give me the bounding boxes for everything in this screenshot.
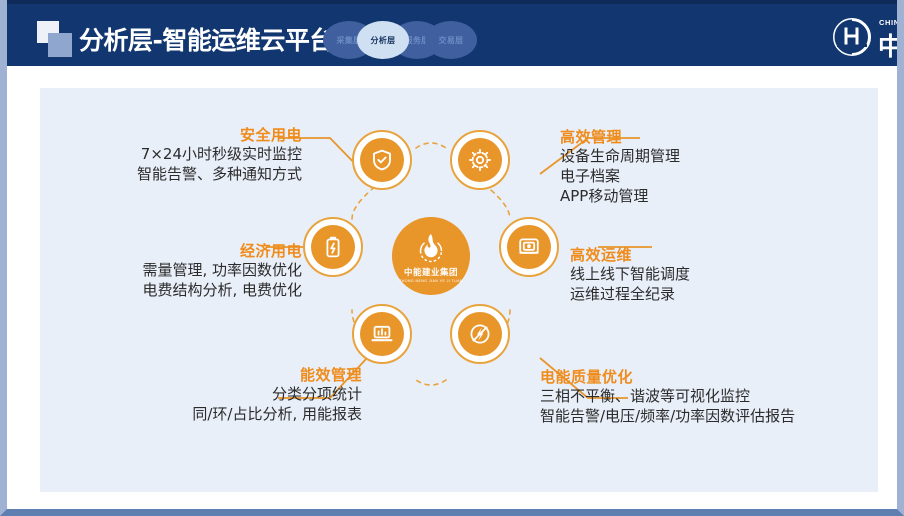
feature-line: 运维过程全纪录 [570,285,870,305]
squares-logo-mark-icon [37,21,73,57]
node-efficient-operations[interactable] [499,217,559,277]
content-panel: 中能建业集团 ZHONG NENG JIAN YE JI TUAN 安全用电 7… [40,88,878,492]
flame-gear-icon [414,231,448,265]
feature-line: 智能告警、多种通知方式 [40,165,302,185]
bar-chart-laptop-icon [360,312,404,356]
center-logo-name: 中能建业集团 [404,266,458,278]
center-logo-pinyin: ZHONG NENG JIAN YE JI TUAN [399,279,463,283]
slide-page: 分析层-智能运维云平台 采集层 分析层 服务层 交易层 CHINA ENERGY… [0,0,904,516]
brand-logo: CHINA ENERGY GUO HONG 中能国宏 [832,16,879,58]
pill-analysis-layer[interactable]: 分析层 [357,21,409,59]
brand-logo-cn: 中能国宏 [878,27,897,63]
feature-title: 安全用电 [40,124,302,145]
company-monogram-icon [832,17,872,57]
page-header: 分析层-智能运维云平台 采集层 分析层 服务层 交易层 CHINA ENERGY… [7,0,897,66]
node-energy-efficiency[interactable] [352,304,412,364]
feature-line: 设备生命周期管理 [560,147,860,167]
feature-line: 三相不平衡、谐波等可视化监控 [540,387,880,407]
feature-efficient-operations: 高效运维 线上线下智能调度 运维过程全纪录 [570,244,870,305]
feature-line: APP移动管理 [560,187,860,207]
bolt-circle-icon [458,312,502,356]
feature-title: 高效运维 [570,244,870,265]
feature-line: 电费结构分析, 电费优化 [20,281,302,301]
feature-power-quality: 电能质量优化 三相不平衡、谐波等可视化监控 智能告警/电压/频率/功率因数评估报… [540,366,880,427]
feature-title: 高效管理 [560,126,860,147]
feature-line: 同/环/占比分析, 用能报表 [100,405,362,425]
page-title: 分析层-智能运维云平台 [79,21,334,57]
feature-energy-efficiency: 能效管理 分类分项统计 同/环/占比分析, 用能报表 [100,364,362,425]
battery-bolt-icon [311,225,355,269]
gear-icon [458,138,502,182]
pill-trading-layer[interactable]: 交易层 [425,21,477,59]
feature-title: 电能质量优化 [540,366,880,387]
feature-line: 需量管理, 功率因数优化 [20,261,302,281]
feature-title: 能效管理 [100,364,362,385]
monitor-gear-icon [507,225,551,269]
feature-safe-power: 安全用电 7×24小时秒级实时监控 智能告警、多种通知方式 [40,124,302,185]
hexagon-diagram: 中能建业集团 ZHONG NENG JIAN YE JI TUAN 安全用电 7… [40,88,878,492]
brand-logo-en: CHINA ENERGY GUO HONG [879,18,897,27]
feature-line: 分类分项统计 [100,385,362,405]
feature-line: 电子档案 [560,167,860,187]
feature-line: 7×24小时秒级实时监控 [40,145,302,165]
center-group-logo: 中能建业集团 ZHONG NENG JIAN YE JI TUAN [392,217,470,295]
shield-check-icon [360,138,404,182]
node-efficient-management[interactable] [450,130,510,190]
feature-efficient-management: 高效管理 设备生命周期管理 电子档案 APP移动管理 [560,126,860,206]
node-power-quality[interactable] [450,304,510,364]
feature-line: 线上线下智能调度 [570,265,870,285]
feature-economic-power: 经济用电 需量管理, 功率因数优化 电费结构分析, 电费优化 [20,240,302,301]
node-safe-power[interactable] [352,130,412,190]
feature-title: 经济用电 [20,240,302,261]
feature-line: 智能告警/电压/频率/功率因数评估报告 [540,407,880,427]
node-economic-power[interactable] [303,217,363,277]
